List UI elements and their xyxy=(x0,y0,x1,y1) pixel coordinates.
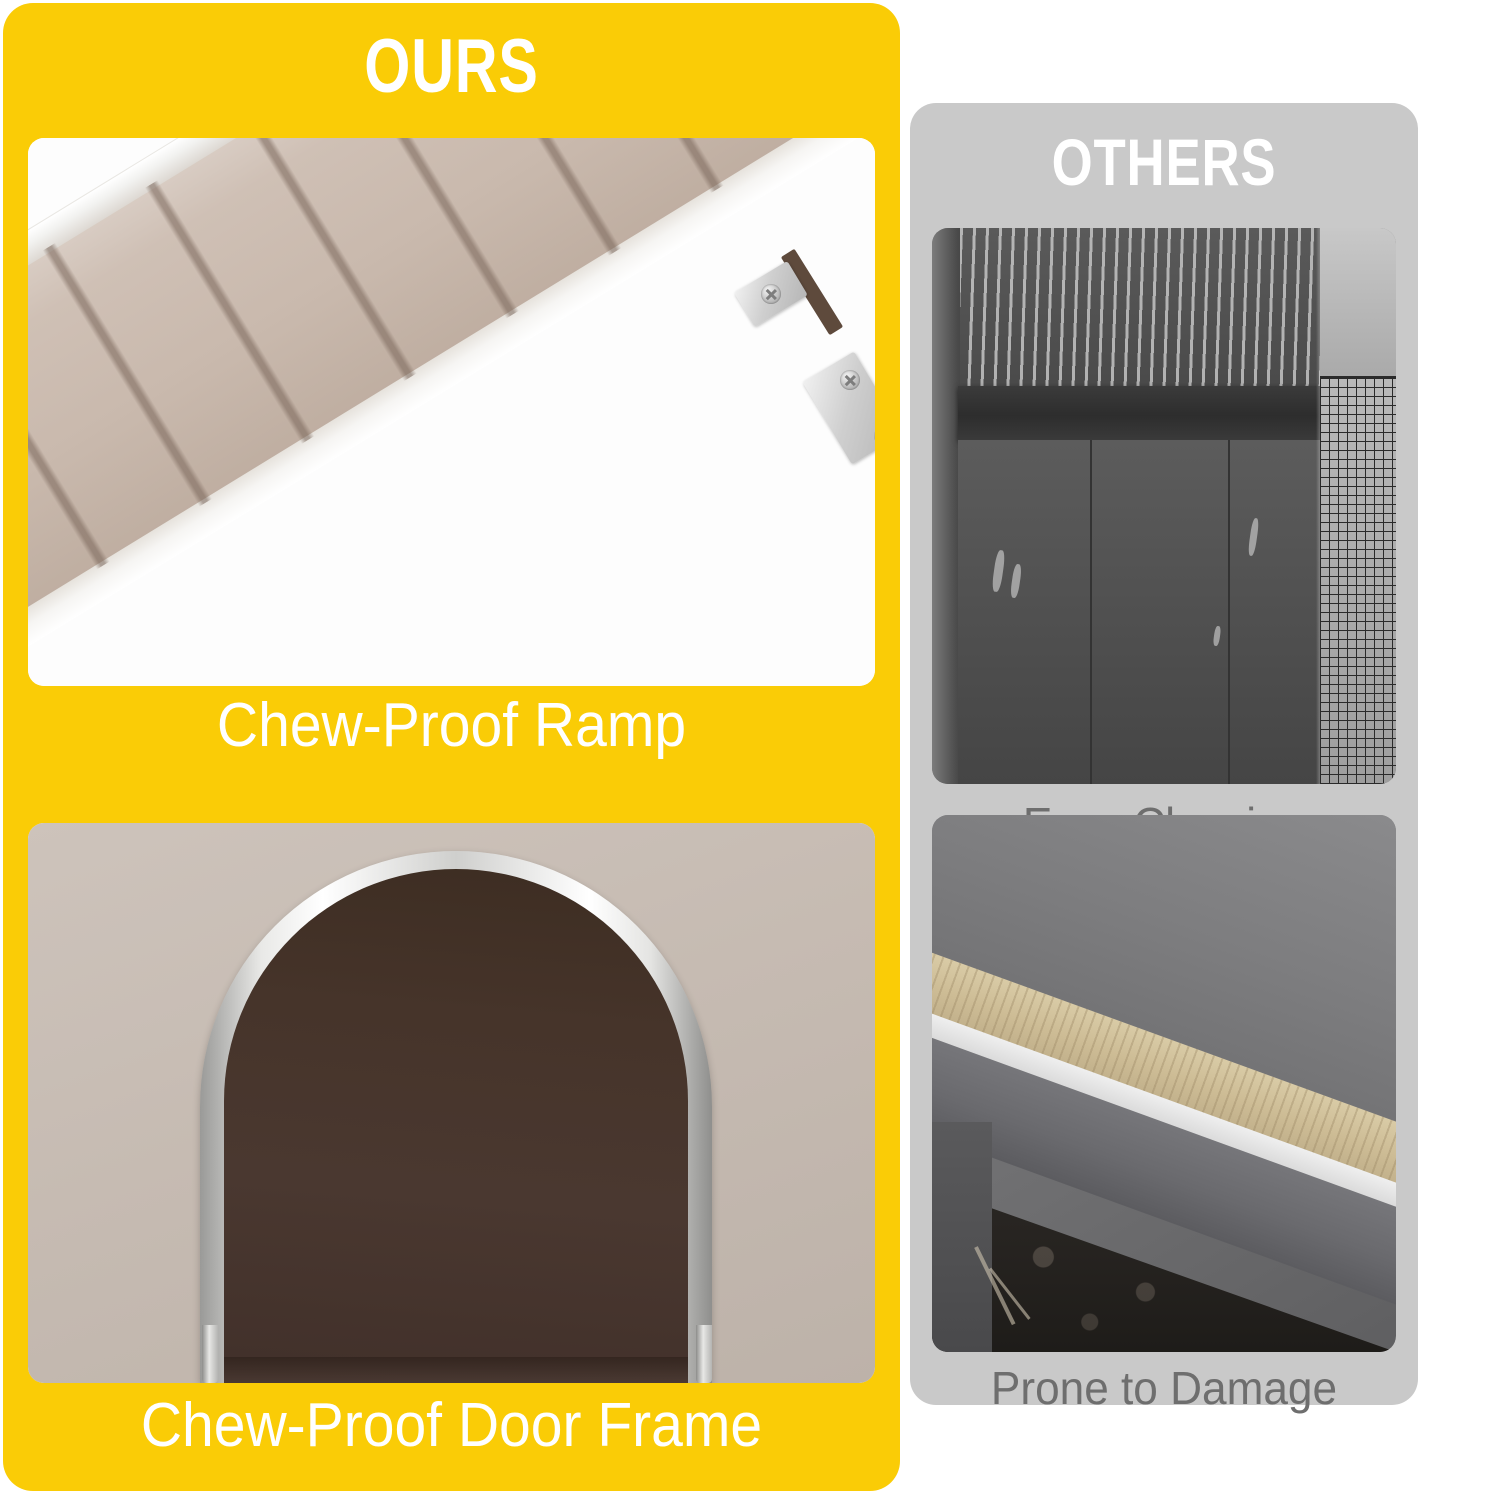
wire-mesh xyxy=(1320,378,1396,784)
ours-heading: OURS xyxy=(102,29,802,105)
ramp-slat-gap xyxy=(28,306,110,570)
door-floor-shadow xyxy=(224,1357,688,1383)
coop-side-wall xyxy=(932,1122,992,1352)
ramp-slat-gap xyxy=(145,180,315,444)
ramp-slat-gap xyxy=(350,138,520,318)
prone-to-damage-photo xyxy=(932,815,1396,1352)
gnaw-marks-area xyxy=(960,228,1350,388)
metal-trim-leg xyxy=(202,1325,218,1383)
ours-panel: OURS Chew-Proof Ramp C xyxy=(3,3,900,1491)
ramp-slat-gap xyxy=(452,138,622,256)
prone-to-damage-caption: Prone to Damage xyxy=(920,1365,1408,1411)
others-heading: OTHERS xyxy=(961,129,1367,195)
others-panel: OTHERS Easy Chewing Prone to Damage xyxy=(910,103,1418,1405)
door-opening xyxy=(224,869,688,1383)
chew-proof-door-frame-caption: Chew-Proof Door Frame xyxy=(39,1395,864,1457)
wood-plank xyxy=(958,440,1092,784)
chew-proof-ramp-caption: Chew-Proof Ramp xyxy=(39,695,864,757)
easy-chewing-photo xyxy=(932,228,1396,784)
ramp-slat-gap xyxy=(43,243,213,507)
ramp-slat-gap xyxy=(247,138,417,381)
phillips-screw-icon xyxy=(840,370,860,390)
wood-plank xyxy=(1092,440,1230,784)
chew-proof-door-frame-photo xyxy=(28,823,875,1383)
metal-trim-leg xyxy=(696,1325,712,1383)
background-wall xyxy=(1320,228,1396,380)
chew-proof-ramp-photo xyxy=(28,138,875,686)
wood-crossbar xyxy=(958,386,1350,440)
phillips-screw-icon xyxy=(761,284,781,304)
